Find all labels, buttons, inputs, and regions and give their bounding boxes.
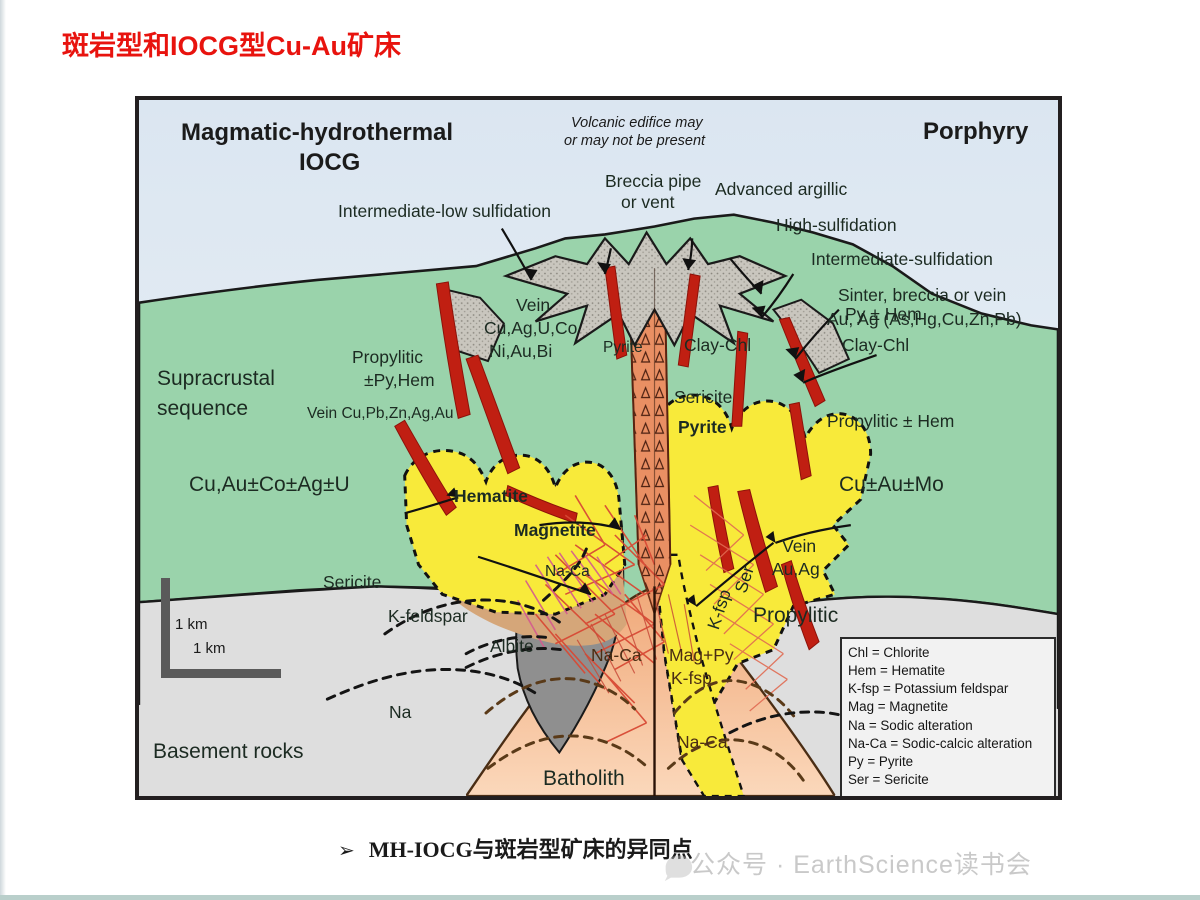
label-basement-rocks: Basement rocks: [153, 741, 304, 764]
label-propylitic-left-line1: Propylitic: [352, 348, 423, 367]
note-volcanic-edifice-line1: Volcanic edifice may: [571, 116, 703, 132]
annotation-advanced-argillic: Advanced argillic: [715, 180, 847, 199]
annotation-high-sulfidation: High-sulfidation: [776, 216, 897, 235]
label-propylitic-hem-right: Propylitic ± Hem: [827, 412, 954, 431]
label-na-ca-upper: Na-Ca: [545, 564, 590, 581]
scale-bar: 1 km 1 km: [161, 578, 291, 686]
label-pyrite-small: Pyrite: [603, 340, 643, 357]
slide-edge-left: [0, 0, 6, 900]
scale-bar-vertical: [161, 578, 170, 678]
note-volcanic-edifice-line2: or may not be present: [564, 134, 705, 150]
label-magnetite: Magnetite: [514, 521, 596, 540]
label-vein-cu-pb-zn-ag-au: Vein Cu,Pb,Zn,Ag,Au: [307, 406, 453, 423]
annotation-intermediate-low-sulfidation: Intermediate-low sulfidation: [338, 202, 551, 221]
scale-bar-vertical-label: 1 km: [175, 616, 208, 633]
label-na: Na: [389, 703, 411, 722]
label-mag-py-line1: Mag+Py: [669, 646, 734, 665]
watermark: 公众号 · EarthScience读书会: [690, 845, 1032, 881]
annotation-intermediate-sulfidation: Intermediate-sulfidation: [811, 250, 993, 269]
label-batholith: Batholith: [543, 768, 625, 791]
label-na-ca-lower: Na-Ca: [677, 733, 728, 752]
legend-row-naca: Na-Ca = Sodic-calcic alteration: [848, 735, 1054, 753]
legend-row-kfsp: K-fsp = Potassium feldspar: [848, 680, 1054, 698]
label-albite: Albite: [490, 637, 534, 656]
label-mag-py-line2: K-fsp: [671, 669, 712, 688]
label-sericite-center: Sericite: [674, 388, 732, 407]
caption: ➢MH-IOCG与斑岩型矿床的异同点: [338, 832, 693, 864]
label-vein-right-line1: Vein: [782, 537, 816, 556]
label-supracrustal-line1: Supracrustal: [157, 368, 275, 391]
heading-magmatic-hydrothermal: Magmatic-hydrothermal: [181, 120, 453, 146]
legend-row-mag: Mag = Magnetite: [848, 698, 1054, 716]
label-propylitic-lower-right: Propylitic: [753, 605, 838, 628]
legend-row-chl: Chl = Chlorite: [848, 644, 1054, 662]
label-vein-left-line2: Cu,Ag,U,Co: [484, 319, 577, 338]
legend-box: Chl = Chlorite Hem = Hematite K-fsp = Po…: [840, 637, 1056, 799]
legend-row-py: Py = Pyrite: [848, 753, 1054, 771]
page-title: 斑岩型和IOCG型Cu-Au矿床: [62, 24, 401, 63]
label-vein-left-line1: Vein: [516, 296, 550, 315]
label-vein-right-line2: Au,Ag: [772, 560, 820, 579]
label-cu-au-mo: Cu±Au±Mo: [839, 474, 944, 497]
caption-text: MH-IOCG与斑岩型矿床的异同点: [369, 837, 693, 862]
heading-porphyry: Porphyry: [923, 119, 1028, 145]
label-propylitic-left-line2: ±Py,Hem: [364, 371, 435, 390]
label-py-hem: Py ± Hem: [845, 305, 922, 324]
label-supracrustal-line2: sequence: [157, 398, 248, 421]
label-na-ca-mid: Na-Ca: [591, 646, 642, 665]
scale-bar-horizontal: [161, 669, 281, 678]
annotation-sinter-breccia-line1: Sinter, breccia or vein: [838, 286, 1006, 305]
label-pyrite-bold: Pyrite: [678, 418, 727, 437]
annotation-breccia-pipe-line2: or vent: [621, 193, 675, 212]
label-clay-chl-center: Clay-Chl: [684, 336, 751, 355]
label-sericite-lower: Sericite: [323, 573, 381, 592]
heading-iocg: IOCG: [299, 150, 360, 176]
legend-row-na: Na = Sodic alteration: [848, 717, 1054, 735]
caption-bullet-icon: ➢: [338, 838, 355, 862]
annotation-breccia-pipe-line1: Breccia pipe: [605, 172, 701, 191]
label-clay-chl-right: Clay-Chl: [842, 336, 909, 355]
legend-row-hem: Hem = Hematite: [848, 662, 1054, 680]
slide-edge-bottom: [0, 895, 1200, 900]
geology-figure: Magmatic-hydrothermal IOCG Porphyry Volc…: [135, 96, 1062, 800]
label-vein-left-line3: Ni,Au,Bi: [489, 342, 552, 361]
label-cu-au-co-ag-u: Cu,Au±Co±Ag±U: [189, 474, 350, 497]
legend-row-ser: Ser = Sericite: [848, 771, 1054, 789]
scale-bar-horizontal-label: 1 km: [193, 640, 226, 657]
label-k-feldspar: K-feldspar: [388, 607, 468, 626]
label-hematite: Hematite: [454, 487, 528, 506]
